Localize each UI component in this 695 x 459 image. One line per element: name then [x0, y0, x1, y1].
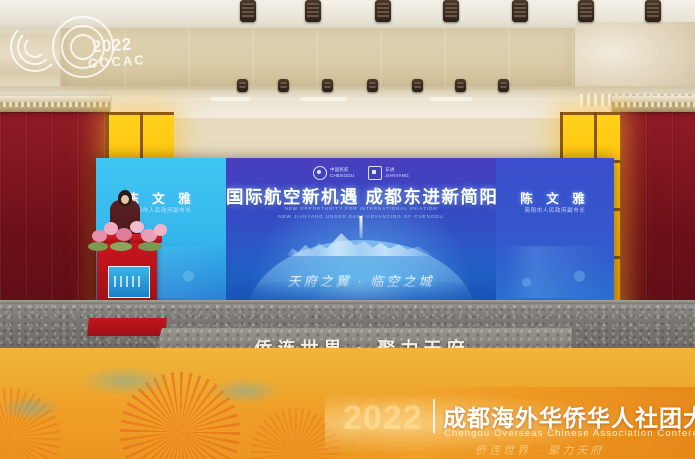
led-stage-screen: 陈 文 雅 简阳市人民政府副市长 中国民航 CHENGDU 东进 J: [96, 158, 614, 304]
stage-light-icon: [645, 0, 661, 22]
stage-light-icon: [240, 0, 256, 22]
led-center-panel: 中国民航 CHENGDU 东进 JIANYANG 国际航空新机遇 成都东进新简阳…: [226, 158, 496, 304]
flower: [154, 224, 167, 236]
square-badge-logo-icon: [368, 166, 382, 180]
speaker-face: [121, 195, 129, 204]
sponsor-1-line2: CHENGDU: [330, 173, 354, 178]
brand-divider: [433, 399, 435, 433]
conference-photo-scene: 陈 文 雅 简阳市人民政府副市长 中国民航 CHENGDU 东进 J: [0, 0, 695, 459]
carpet-teal-accent: [210, 378, 280, 404]
foliage: [88, 242, 108, 251]
stage-light-icon: [512, 0, 528, 22]
sponsor-1-label: 中国民航 CHENGDU: [330, 167, 354, 178]
globe-circle-logo-icon: [313, 166, 327, 180]
sponsor-logo-1: 中国民航 CHENGDU: [313, 166, 354, 180]
ceiling-light-strip: [300, 97, 346, 101]
ceiling-light-strip: [210, 97, 250, 101]
stage-light-icon: [278, 79, 289, 92]
sponsor-2-label: 东进 JIANYANG: [385, 167, 409, 178]
stage-light-icon: [455, 79, 466, 92]
stage-light-icon: [305, 0, 321, 22]
podium-flower-arrangement: [86, 216, 172, 256]
stage-light-icon: [498, 79, 509, 92]
slide-subtitle-en-line1: NEW OPPORTUNITY FOR INTERNATIONAL AVIATI…: [226, 206, 496, 211]
stage-light-icon: [412, 79, 423, 92]
sponsor-logo-row: 中国民航 CHENGDU 东进 JIANYANG: [226, 165, 496, 181]
conference-brand-bar: 2022 成都海外华侨华人社团大会 Chengdu Overseas Chine…: [325, 387, 695, 459]
left-cornice: [0, 96, 110, 112]
sponsor-2-line1: 东进: [385, 167, 394, 172]
foliage: [138, 242, 162, 251]
stage-light-icon: [322, 79, 333, 92]
sponsor-2-line2: JIANYANG: [385, 173, 409, 178]
right-panel-speaker-title: 简阳市人民政府副市长: [496, 206, 614, 214]
podium-logo-plate: [108, 266, 150, 298]
sponsor-logo-2: 东进 JIANYANG: [368, 166, 409, 180]
stage-light-icon: [578, 0, 594, 22]
red-carpet-runner: [87, 318, 167, 336]
brand-tagline: 侨连世界 · 聚力天府: [475, 442, 604, 458]
foliage: [110, 242, 132, 251]
brand-year: 2022: [343, 399, 423, 438]
right-panel-speaker-name: 陈 文 雅: [496, 188, 614, 207]
ceiling-right-dome: [575, 22, 695, 96]
right-cornice: [612, 96, 695, 112]
led-right-panel: 陈 文 雅 简阳市人民政府副市长: [496, 158, 614, 304]
stage-light-icon: [367, 79, 378, 92]
carpet-teal-accent: [80, 366, 170, 396]
tv-tower-icon: [360, 216, 363, 238]
brand-title-en: Chengdu Overseas Chinese Association Con…: [444, 428, 695, 439]
stage-light-icon: [443, 0, 459, 22]
stage-light-icon: [237, 79, 248, 92]
sponsor-1-line1: 中国民航: [330, 167, 349, 172]
right-panel-decor-graphic: [504, 246, 606, 298]
carpet-teal-accent: [0, 396, 60, 420]
stage-light-icon: [375, 0, 391, 22]
flower: [116, 228, 132, 241]
ceiling-light-strip: [430, 97, 472, 101]
